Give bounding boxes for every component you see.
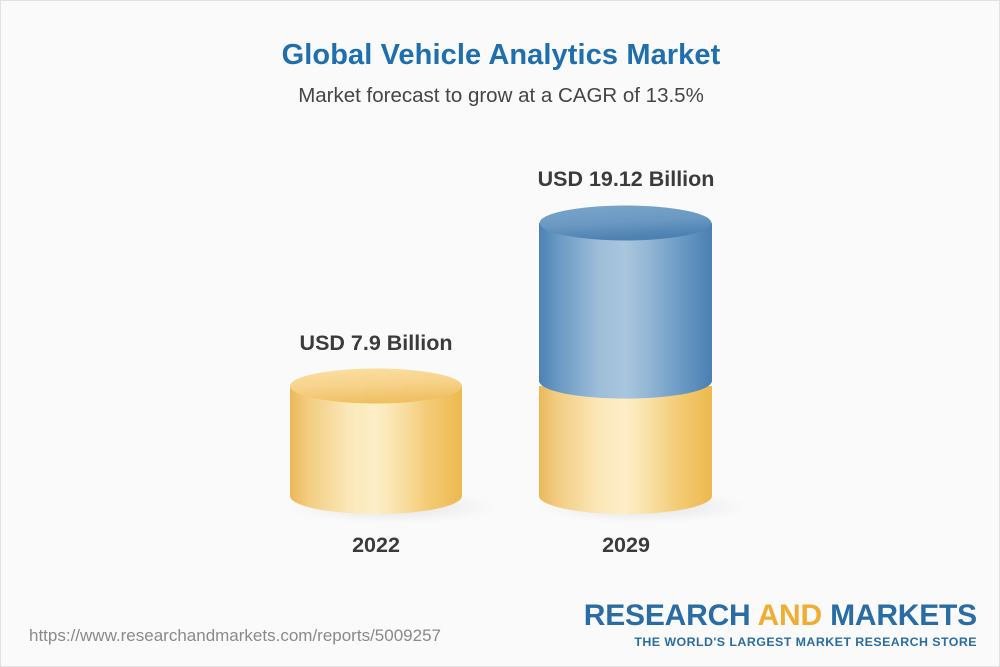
infographic-root: Global Vehicle Analytics Market Market f… [0,0,1000,667]
bar-2022-value-label: USD 7.9 Billion [300,331,453,356]
x-axis-label-2029: 2029 [602,533,650,558]
bar-2029-base-segment [539,386,712,514]
brand-logo[interactable]: RESEARCH AND MARKETS THE WORLD'S LARGEST… [584,601,977,648]
bar-2029-growth-segment [539,223,712,399]
brand-word-research: RESEARCH [584,599,758,632]
x-axis-label-2022: 2022 [352,533,400,558]
chart-plot-area: USD 7.9 Billion USD 19.12 Billion 2022 2… [1,1,1000,667]
bar-2022-top-cap [290,369,462,404]
bar-2022[interactable] [285,369,501,525]
bar-chart-svg [1,1,1000,667]
brand-tagline: THE WORLD'S LARGEST MARKET RESEARCH STOR… [584,636,977,648]
brand-wordmark: RESEARCH AND MARKETS [584,601,977,631]
report-url-link[interactable]: https://www.researchandmarkets.com/repor… [29,626,441,646]
bar-2029-top-cap [540,206,712,241]
bar-2022-body [290,386,462,514]
bar-2029[interactable] [535,206,751,525]
bar-2029-value-label: USD 19.12 Billion [538,167,715,192]
brand-word-and: AND [758,599,831,632]
brand-word-markets: MARKETS [830,599,977,632]
